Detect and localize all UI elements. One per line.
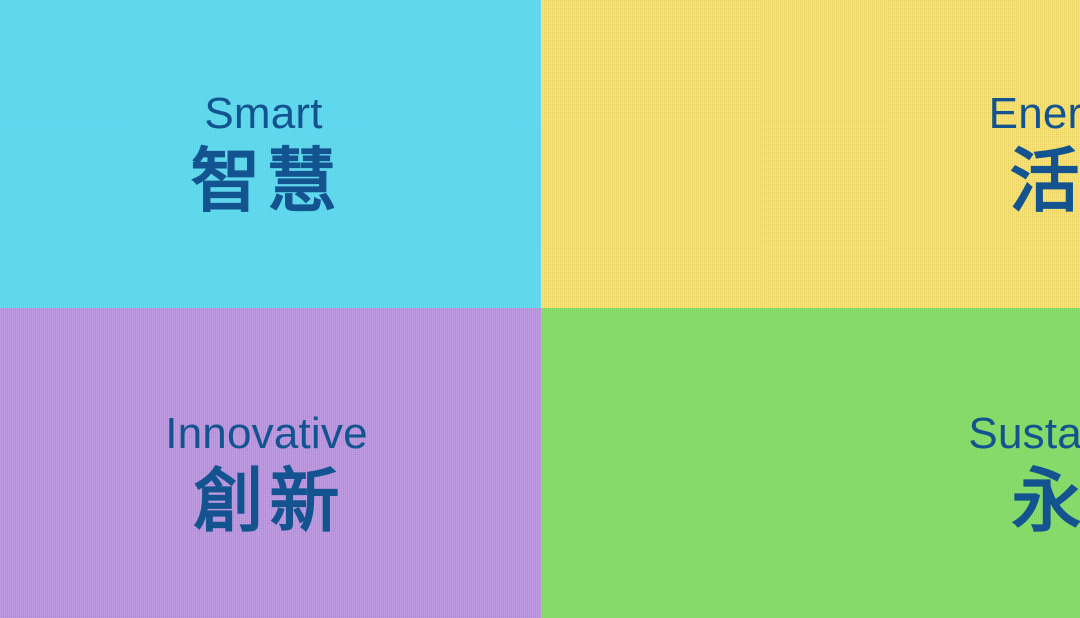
value-text-block-innovative: Innovative 創新 bbox=[165, 412, 368, 542]
quadrant-innovative: Innovative 創新 bbox=[0, 308, 541, 618]
value-text-block-smart: Smart 智慧 bbox=[191, 92, 337, 222]
quadrant-sustainable: Sustainable 永續 bbox=[541, 308, 1080, 618]
value-label-cjk-energetic: 活力 bbox=[1010, 142, 1080, 222]
value-label-en-sustainable: Sustainable bbox=[968, 412, 1080, 456]
value-label-en-energetic: Energetic bbox=[989, 92, 1080, 136]
quadrant-smart: Smart 智慧 bbox=[0, 0, 541, 308]
brand-values-grid: Smart 智慧 Energetic 活力 Innovative 創新 Sust… bbox=[0, 0, 1080, 618]
value-label-cjk-innovative: 創新 bbox=[193, 462, 345, 542]
value-label-en-innovative: Innovative bbox=[165, 412, 368, 456]
value-label-en-smart: Smart bbox=[204, 92, 322, 136]
value-label-cjk-sustainable: 永續 bbox=[1012, 462, 1080, 542]
value-text-block-sustainable: Sustainable 永續 bbox=[968, 412, 1080, 542]
value-label-cjk-smart: 智慧 bbox=[191, 142, 343, 222]
quadrant-energetic: Energetic 活力 bbox=[541, 0, 1080, 308]
value-text-block-energetic: Energetic 活力 bbox=[989, 92, 1080, 222]
